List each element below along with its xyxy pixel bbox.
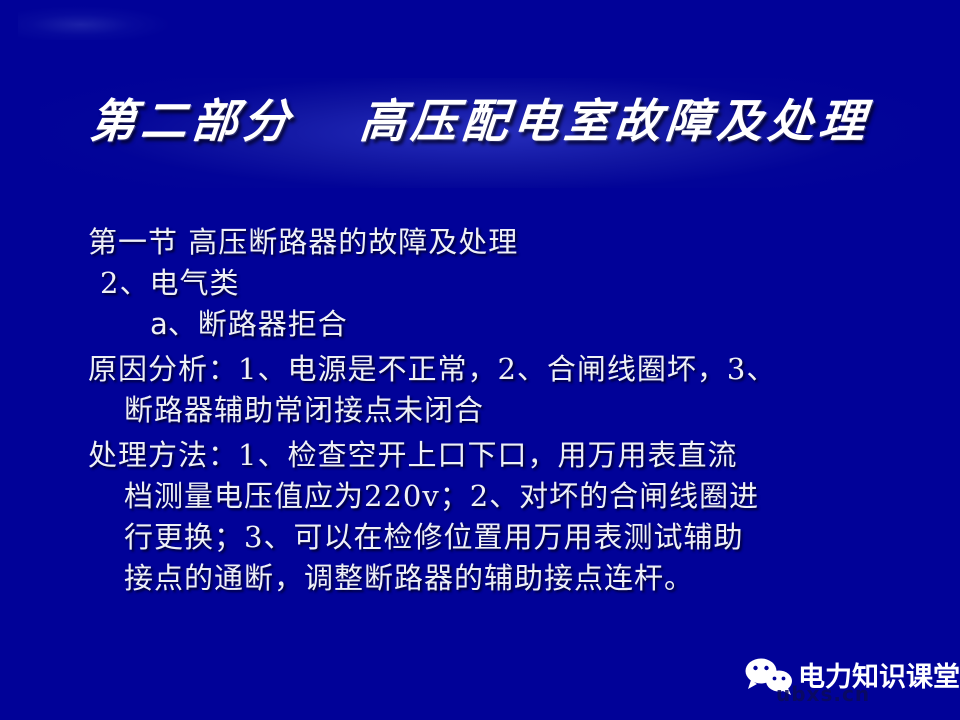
cause-line-2: 断路器辅助常闭接点未闭合 (88, 390, 920, 431)
sub-item-breaker-refuse-close: a、断路器拒合 (88, 304, 920, 345)
list-item-electrical: 2、电气类 (88, 263, 920, 304)
method-line-4: 接点的通断，调整断路器的辅助接点连杆。 (88, 558, 920, 599)
title-heading: 高压配电室故障及处理 (358, 94, 873, 148)
section-heading: 第一节 高压断路器的故障及处理 (88, 222, 920, 263)
method-line-2: 档测量电压值应为220v；2、对坏的合闸线圈进 (88, 476, 920, 517)
treatment-method-paragraph: 处理方法：1、检查空开上口下口，用万用表直流 档测量电压值应为220v；2、对坏… (88, 435, 920, 599)
slide-body: 第一节 高压断路器的故障及处理 2、电气类 a、断路器拒合 原因分析：1、电源是… (88, 222, 920, 599)
corner-watermark-smudge (18, 6, 168, 40)
title-part-label: 第二部分 (88, 94, 297, 148)
cause-analysis-paragraph: 原因分析：1、电源是不正常，2、合闸线圈坏，3、 断路器辅助常闭接点未闭合 (88, 349, 920, 431)
method-line-3: 行更换；3、可以在检修位置用万用表测试辅助 (88, 517, 920, 558)
site-watermark: ubxs.cn (776, 682, 870, 706)
slide-canvas: 第二部分 高压配电室故障及处理 第一节 高压断路器的故障及处理 2、电气类 a、… (0, 0, 960, 720)
method-line-1: 处理方法：1、检查空开上口下口，用万用表直流 (88, 435, 920, 476)
page-title: 第二部分 高压配电室故障及处理 (0, 96, 960, 148)
cause-line-1: 原因分析：1、电源是不正常，2、合闸线圈坏，3、 (88, 349, 920, 390)
sub-item-label: 、断路器拒合 (168, 307, 348, 341)
brand-watermark: 电力知识课堂 ubxs.cn (742, 652, 952, 702)
sub-item-marker: a (150, 307, 168, 341)
